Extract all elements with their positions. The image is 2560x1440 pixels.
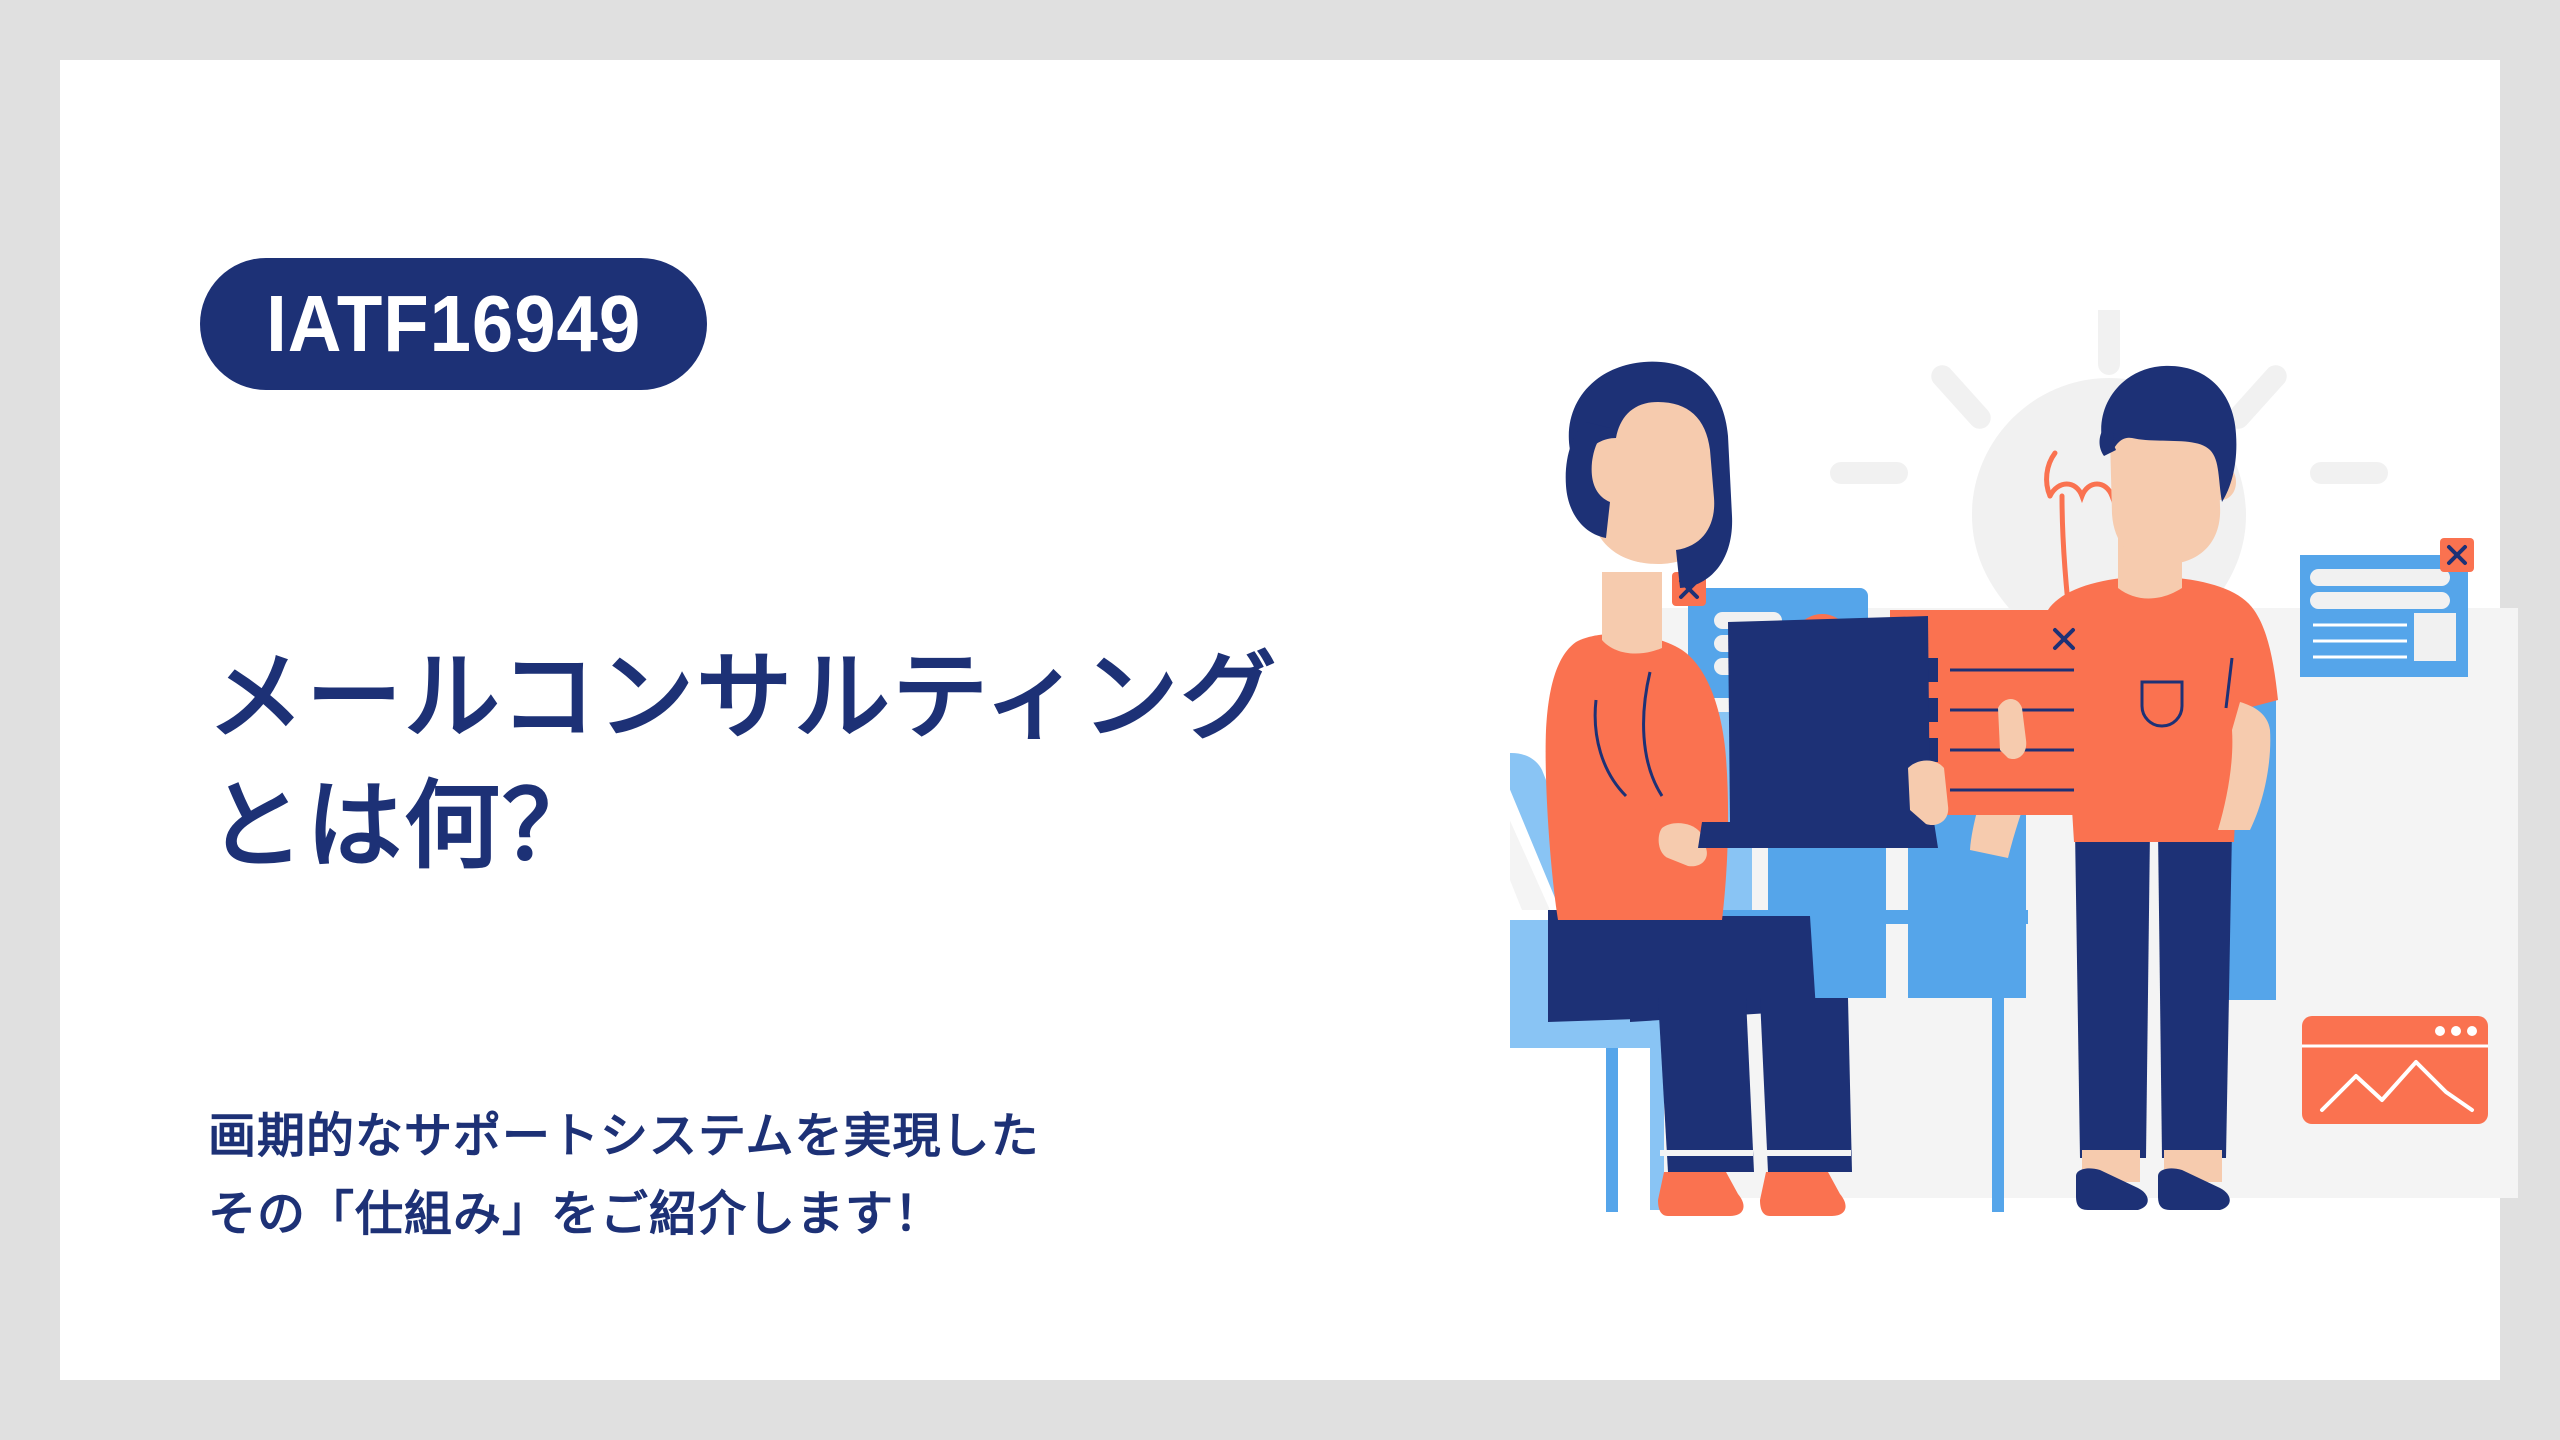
page-title-line-1: メールコンサルティング: [208, 634, 1278, 763]
man-right-leg: [2158, 830, 2232, 1158]
laptop-screen: [1728, 616, 1930, 822]
woman-shin-right: [1760, 998, 1852, 1172]
laptop-base: [1698, 822, 1938, 848]
page-title-line-2: とは何？: [208, 763, 1278, 892]
bulb-ray-left: [1830, 462, 1908, 484]
slide-frame: IATF16949 メールコンサルティング とは何？ 画期的なサポートシステムを…: [0, 0, 2560, 1440]
standard-badge-label: IATF16949: [266, 284, 641, 364]
page-subtitle: 画期的なサポートシステムを実現した その「仕組み」をご紹介します！: [208, 1098, 1040, 1254]
desk-leg-right: [1992, 920, 2004, 1212]
document-card-bar-1: [2310, 569, 2450, 586]
bulb-ray-left-diag: [1927, 361, 1996, 434]
page-title: メールコンサルティング とは何？: [208, 634, 1278, 891]
man-left-leg: [2075, 830, 2150, 1158]
page-subtitle-line-2: その「仕組み」をご紹介します！: [208, 1176, 1040, 1254]
bulb-ray-right: [2310, 462, 2388, 484]
document-card-thumbnail: [2414, 613, 2456, 661]
woman-sweater: [1546, 634, 1728, 920]
document-window-card: [2300, 538, 2474, 677]
document-card-bar-2: [2310, 592, 2450, 609]
standard-badge: IATF16949: [200, 258, 707, 390]
woman-shin-left: [1658, 998, 1754, 1172]
bulb-ray-top: [2098, 310, 2120, 375]
line-chart-window-card: [2302, 1016, 2488, 1124]
slide-card: IATF16949 メールコンサルティング とは何？ 画期的なサポートシステムを…: [60, 60, 2500, 1380]
window-dots-icon: [2435, 1026, 2477, 1036]
page-subtitle-line-1: 画期的なサポートシステムを実現した: [208, 1098, 1040, 1176]
business-consulting-illustration: [1510, 310, 2560, 1310]
woman-neck: [1602, 572, 1662, 654]
